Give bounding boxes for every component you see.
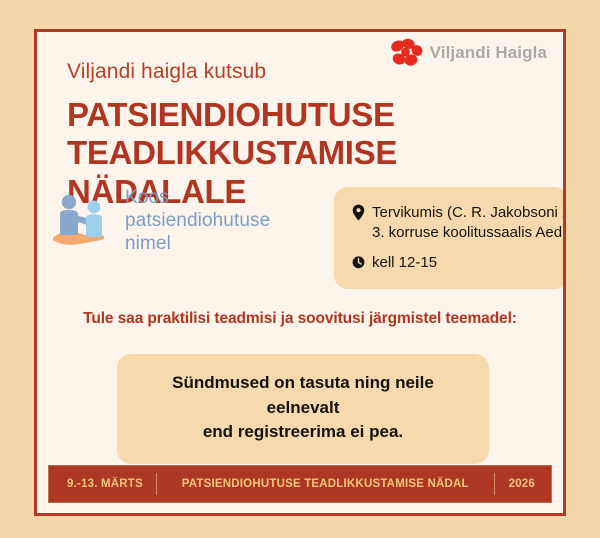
info-time-text: kell 12-15 — [372, 253, 437, 273]
footer-title: PATSIENDIOHUTUSE TEADLIKKUSTAMISE NÄDAL — [157, 478, 494, 490]
flower-petals-icon — [389, 38, 423, 68]
notice-line-2: end registreerima ei pea. — [137, 420, 469, 445]
koos-line-2: patsiendiohutuse — [125, 210, 270, 233]
info-row-time: kell 12-15 — [352, 253, 555, 273]
free-entry-notice: Sündmused on tasuta ning neile eelnevalt… — [117, 354, 489, 464]
koos-line-1: Koos — [125, 187, 270, 210]
info-location-line-2: 3. korruse koolitussaalis Aed — [372, 223, 566, 243]
hospital-brand: Viljandi Haigla — [389, 38, 547, 68]
koos-logo: Koos patsiendiohutuse nimel — [49, 187, 270, 255]
kicker-text: Viljandi haigla kutsub — [67, 60, 266, 84]
two-people-on-hand-icon — [49, 190, 119, 252]
footer-date: 9.-13. MÄRTS — [49, 478, 156, 490]
koos-line-3: nimel — [125, 233, 270, 256]
info-location-line-1: Tervikumis (C. R. Jakobsoni 2a) — [372, 203, 566, 223]
clock-icon — [352, 254, 365, 271]
event-info-box: Tervikumis (C. R. Jakobsoni 2a) 3. korru… — [334, 187, 566, 289]
notice-line-1: Sündmused on tasuta ning neile eelnevalt — [137, 371, 469, 420]
koos-logo-text: Koos patsiendiohutuse nimel — [125, 187, 270, 255]
info-location-lines: Tervikumis (C. R. Jakobsoni 2a) 3. korru… — [372, 203, 566, 242]
poster-frame: Viljandi Haigla Viljandi haigla kutsub P… — [34, 29, 566, 516]
hospital-brand-name: Viljandi Haigla — [430, 43, 547, 63]
subhead-text: Tule saa praktilisi teadmisi ja soovitus… — [37, 310, 563, 328]
headline-line-1: PATSIENDIOHUTUSE — [67, 96, 395, 133]
info-row-location: Tervikumis (C. R. Jakobsoni 2a) 3. korru… — [352, 203, 555, 242]
info-time-lines: kell 12-15 — [372, 253, 437, 273]
footer-banner: 9.-13. MÄRTS PATSIENDIOHUTUSE TEADLIKKUS… — [48, 465, 552, 503]
poster-root: Viljandi Haigla Viljandi haigla kutsub P… — [0, 0, 600, 538]
footer-year: 2026 — [495, 478, 551, 490]
location-pin-icon — [352, 204, 365, 221]
